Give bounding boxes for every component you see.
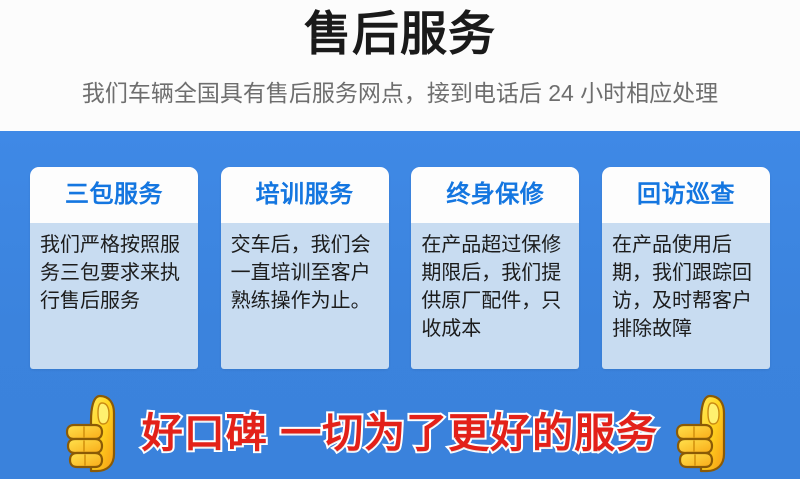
card-body: 在产品使用后期，我们跟踪回访，及时帮客户排除故障 — [602, 223, 770, 349]
promo-banner: 售后服务 我们车辆全国具有售后服务网点，接到电话后 24 小时相应处理 三包服务… — [0, 0, 800, 479]
slogan-text: 好口碑 一切为了更好的服务 — [142, 408, 658, 458]
card-body: 交车后，我们会一直培训至客户熟练操作为止。 — [221, 223, 389, 321]
thumbs-up-icon — [672, 391, 738, 475]
service-card-lifetime-warranty[interactable]: 终身保修 在产品超过保修期限后，我们提供原厂配件，只收成本 — [411, 167, 579, 369]
service-cards-row: 三包服务 我们严格按照服务三包要求来执行售后服务 培训服务 交车后，我们会一直培… — [30, 167, 770, 369]
card-header: 回访巡查 — [602, 167, 770, 223]
card-header: 三包服务 — [30, 167, 198, 223]
card-header: 培训服务 — [221, 167, 389, 223]
card-body: 在产品超过保修期限后，我们提供原厂配件，只收成本 — [411, 223, 579, 349]
card-title: 培训服务 — [256, 181, 354, 209]
blue-panel: 三包服务 我们严格按照服务三包要求来执行售后服务 培训服务 交车后，我们会一直培… — [0, 131, 800, 479]
slogan-strip: 好口碑 一切为了更好的服务 — [0, 386, 800, 479]
service-card-san-bao[interactable]: 三包服务 我们严格按照服务三包要求来执行售后服务 — [30, 167, 198, 369]
service-card-followup-inspection[interactable]: 回访巡查 在产品使用后期，我们跟踪回访，及时帮客户排除故障 — [602, 167, 770, 369]
page-subtitle: 我们车辆全国具有售后服务网点，接到电话后 24 小时相应处理 — [0, 78, 800, 108]
page-title: 售后服务 — [0, 6, 800, 62]
card-title: 终身保修 — [446, 181, 544, 209]
card-title: 三包服务 — [65, 181, 163, 209]
card-title: 回访巡查 — [637, 181, 735, 209]
card-body: 我们严格按照服务三包要求来执行售后服务 — [30, 223, 198, 321]
header-section: 售后服务 我们车辆全国具有售后服务网点，接到电话后 24 小时相应处理 — [0, 0, 800, 131]
service-card-training[interactable]: 培训服务 交车后，我们会一直培训至客户熟练操作为止。 — [221, 167, 389, 369]
card-header: 终身保修 — [411, 167, 579, 223]
thumbs-up-icon — [62, 391, 128, 475]
